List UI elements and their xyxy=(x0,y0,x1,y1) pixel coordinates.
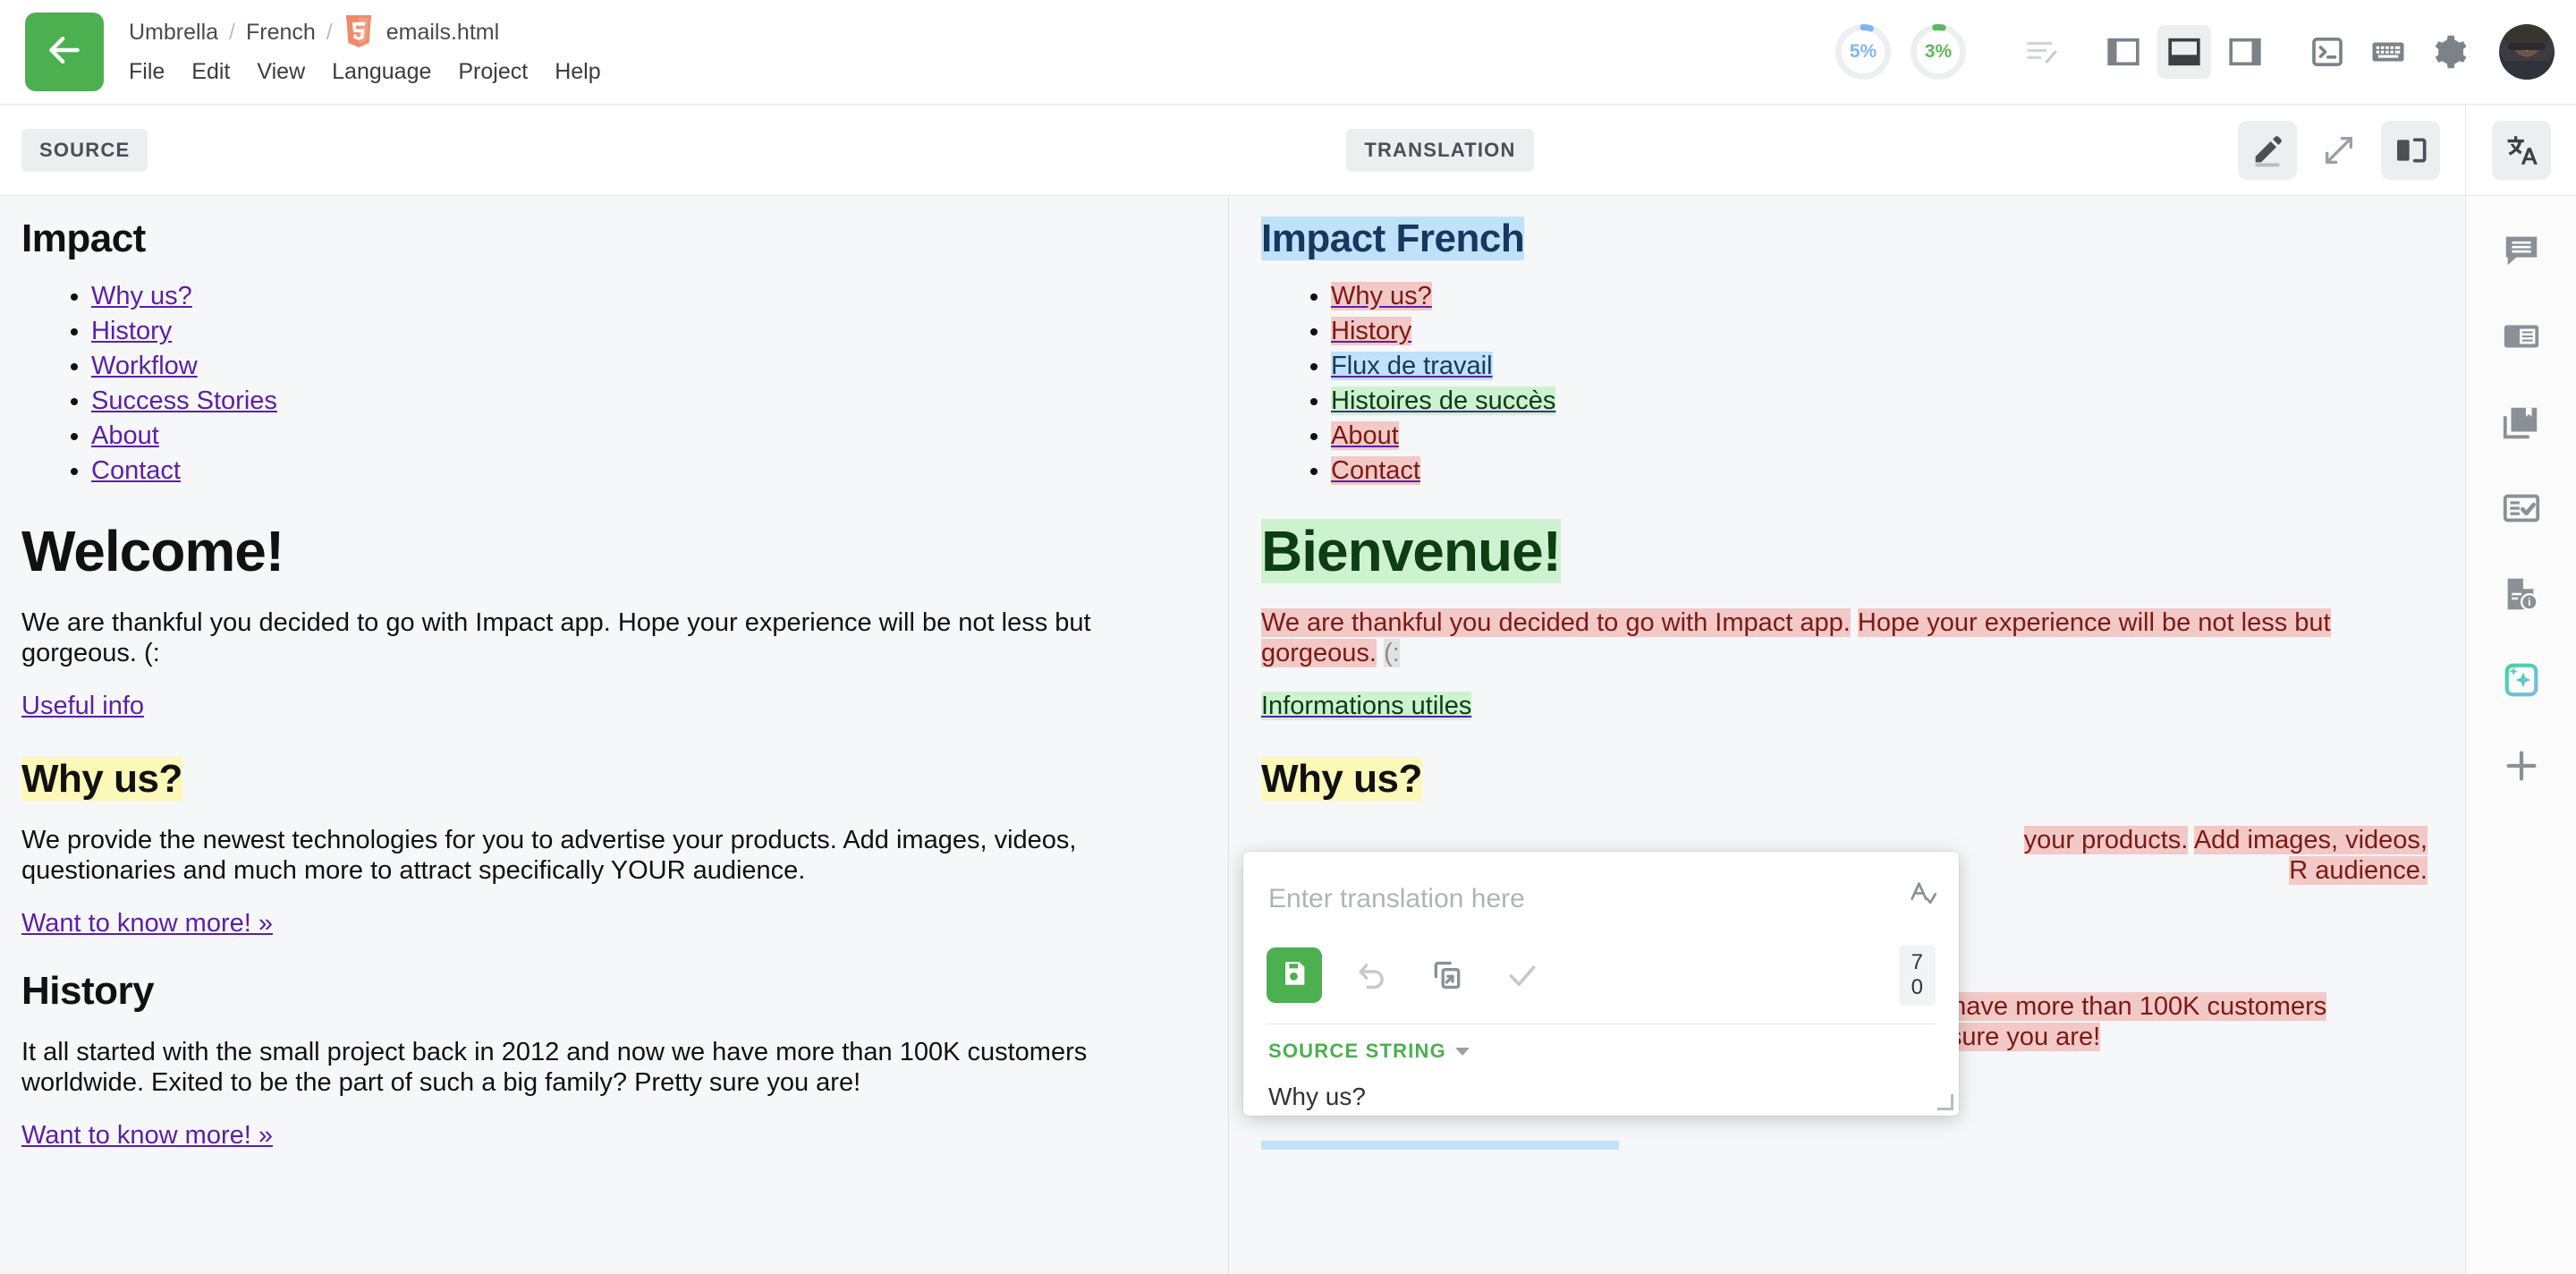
source-history-paragraph[interactable]: It all started with the small project ba… xyxy=(21,1037,1207,1098)
list-item: Workflow xyxy=(91,349,1207,383)
menu-item-view[interactable]: View xyxy=(257,59,305,85)
approved-progress-donut[interactable]: 3% xyxy=(1911,24,1966,80)
list-item: Contact xyxy=(91,454,1207,488)
list-item: Why us? xyxy=(91,279,1207,313)
target-nav-link-success-stories[interactable]: Histoires de succès xyxy=(1331,386,1555,415)
counter-limit: 0 xyxy=(1911,975,1923,1000)
source-nav-list: Why us? History Workflow Success Stories… xyxy=(91,279,1207,488)
target-welcome-heading-text[interactable]: Bienvenue! xyxy=(1261,519,1561,583)
target-why-us-segment-2[interactable]: Add images, videos, xyxy=(2194,826,2428,854)
avatar-body xyxy=(2499,61,2555,80)
translation-editor-popup: 7 0 SOURCE STRING Why us? xyxy=(1243,852,1959,1116)
target-nav-list: Why us? History Flux de travail Histoire… xyxy=(1331,279,2444,488)
source-nav-link-workflow[interactable]: Workflow xyxy=(91,352,198,380)
target-welcome-heading: Bienvenue! xyxy=(1261,518,2444,584)
source-welcome-heading: Welcome! xyxy=(21,518,1207,584)
breadcrumb-separator: / xyxy=(326,20,333,46)
save-button[interactable] xyxy=(1267,947,1322,1003)
menu-item-help[interactable]: Help xyxy=(555,59,600,85)
source-nav-link-about[interactable]: About xyxy=(91,421,159,450)
popup-resize-handle[interactable] xyxy=(1937,1094,1953,1110)
target-doc-title: Impact French xyxy=(1261,217,2444,261)
glossary-icon[interactable] xyxy=(2490,305,2553,368)
source-history-link[interactable]: Want to know more! » xyxy=(21,1121,273,1151)
save-icon xyxy=(1279,958,1309,993)
list-item: About xyxy=(1331,419,2444,453)
layout-right-icon[interactable] xyxy=(2218,25,2272,79)
menu-item-file[interactable]: File xyxy=(129,59,165,85)
title-block: Umbrella / French / emails.html File Edi… xyxy=(129,14,601,89)
source-why-us-heading: Why us? xyxy=(21,757,1207,802)
target-nav-link-about[interactable]: About xyxy=(1331,421,1399,450)
breadcrumb-item-file[interactable]: emails.html xyxy=(386,20,499,46)
edit-lines-icon[interactable] xyxy=(2014,25,2068,79)
editor-toolbar: SOURCE TRANSLATION xyxy=(0,105,2465,196)
source-nav-link-history[interactable]: History xyxy=(91,317,172,345)
copy-source-icon[interactable] xyxy=(1422,950,1472,1000)
menu-bar: File Edit View Language Project Help xyxy=(129,54,601,89)
layout-stacked-icon[interactable] xyxy=(2157,25,2211,79)
spellcheck-icon[interactable] xyxy=(1907,879,1937,913)
source-nav-link-why-us[interactable]: Why us? xyxy=(91,282,192,310)
ai-magic-icon[interactable] xyxy=(2490,649,2553,711)
avatar[interactable] xyxy=(2499,24,2555,80)
list-item: History xyxy=(1331,314,2444,348)
source-welcome-paragraph[interactable]: We are thankful you decided to go with I… xyxy=(21,607,1207,668)
list-item: History xyxy=(91,314,1207,348)
chevron-down-icon xyxy=(1455,1048,1470,1056)
list-item: Why us? xyxy=(1331,279,2444,313)
source-string-toggle[interactable]: SOURCE STRING xyxy=(1268,1040,1470,1063)
target-useful-info-link[interactable]: Informations utiles xyxy=(1261,692,1471,720)
list-item: About xyxy=(91,419,1207,453)
target-welcome-segment-1[interactable]: We are thankful you decided to go with I… xyxy=(1261,608,1851,637)
expand-diagonal-icon[interactable] xyxy=(2309,121,2368,180)
target-doc-title-text[interactable]: Impact French xyxy=(1261,217,1524,260)
target-why-us-segment-3[interactable]: R audience. xyxy=(2289,856,2428,885)
approve-check-icon[interactable] xyxy=(1497,950,1547,1000)
source-nav-link-success-stories[interactable]: Success Stories xyxy=(91,386,277,415)
target-useful-info-row: Informations utiles xyxy=(1261,692,2444,721)
gear-icon[interactable] xyxy=(2422,25,2476,79)
list-item: Success Stories xyxy=(91,384,1207,418)
list-item: Histoires de succès xyxy=(1331,384,2444,418)
back-button[interactable] xyxy=(25,13,104,91)
source-useful-info-link[interactable]: Useful info xyxy=(21,692,144,721)
target-next-segment-partial[interactable] xyxy=(1261,1141,1619,1150)
breadcrumb-separator: / xyxy=(229,20,235,46)
source-history-heading: History xyxy=(21,969,1207,1014)
source-string-text: Why us? xyxy=(1268,1083,1366,1111)
list-item: Flux de travail xyxy=(1331,349,2444,383)
translated-progress-value: 5% xyxy=(1835,24,1891,80)
target-why-us-heading-text[interactable]: Why us? xyxy=(1261,757,1422,801)
target-nav-link-history[interactable]: History xyxy=(1331,317,1411,345)
target-why-us-segment-1[interactable]: your products. xyxy=(2024,826,2189,854)
undo-icon[interactable] xyxy=(1347,950,1397,1000)
avatar-glasses xyxy=(2508,43,2546,49)
source-why-us-paragraph[interactable]: We provide the newest technologies for y… xyxy=(21,825,1207,886)
source-doc-title: Impact xyxy=(21,217,1207,261)
translated-progress-donut[interactable]: 5% xyxy=(1835,24,1891,80)
source-nav-link-contact[interactable]: Contact xyxy=(91,456,181,485)
target-nav-link-contact[interactable]: Contact xyxy=(1331,456,1420,485)
source-string-label: SOURCE STRING xyxy=(1268,1040,1446,1063)
target-nav-link-why-us[interactable]: Why us? xyxy=(1331,282,1432,310)
approved-progress-value: 3% xyxy=(1911,24,1966,80)
list-item: Contact xyxy=(1331,454,2444,488)
top-bar-actions: 5% 3% xyxy=(1835,0,2555,104)
breadcrumb-item-project[interactable]: Umbrella xyxy=(129,20,218,46)
pencil-edit-icon[interactable] xyxy=(2238,121,2297,180)
breadcrumb: Umbrella / French / emails.html xyxy=(129,14,601,50)
editor-panes: Impact Why us? History Workflow Success … xyxy=(0,197,2465,1274)
translation-input[interactable] xyxy=(1243,852,1959,914)
counter-current: 7 xyxy=(1911,950,1923,975)
target-why-us-heading: Why us? xyxy=(1261,757,2444,802)
translate-tool-slot xyxy=(2466,105,2576,196)
source-pane: Impact Why us? History Workflow Success … xyxy=(0,197,1229,1274)
target-nav-link-workflow[interactable]: Flux de travail xyxy=(1331,352,1493,380)
right-sidebar: i xyxy=(2465,105,2576,1274)
file-info-icon[interactable]: i xyxy=(2490,563,2553,625)
layout-left-icon[interactable] xyxy=(2097,25,2150,79)
source-why-us-link[interactable]: Want to know more! » xyxy=(21,909,273,939)
menu-item-project[interactable]: Project xyxy=(458,59,528,85)
terminal-icon[interactable] xyxy=(2301,25,2354,79)
editor-toolbar-actions xyxy=(2238,121,2440,180)
menu-item-language[interactable]: Language xyxy=(332,59,431,85)
popup-divider xyxy=(1267,1023,1936,1024)
translate-icon[interactable] xyxy=(2492,121,2551,180)
target-welcome-paragraph: We are thankful you decided to go with I… xyxy=(1261,607,2444,668)
html5-file-icon xyxy=(343,15,374,49)
source-panel-label[interactable]: SOURCE xyxy=(21,129,148,172)
target-welcome-segment-3[interactable]: (: xyxy=(1384,639,1400,667)
comments-icon[interactable] xyxy=(2490,219,2553,282)
add-plus-icon[interactable] xyxy=(2490,735,2553,797)
keyboard-icon[interactable] xyxy=(2361,25,2415,79)
translation-panel-label[interactable]: TRANSLATION xyxy=(1346,129,1533,172)
character-counter: 7 0 xyxy=(1899,945,1936,1006)
menu-item-edit[interactable]: Edit xyxy=(191,59,230,85)
top-bar: Umbrella / French / emails.html File Edi… xyxy=(0,0,2576,105)
breadcrumb-item-language[interactable]: French xyxy=(246,20,316,46)
popup-actions: 7 0 xyxy=(1267,945,1936,1006)
svg-text:i: i xyxy=(2528,596,2530,608)
source-why-us-heading-text: Why us? xyxy=(21,757,182,801)
qa-checklist-icon[interactable] xyxy=(2490,477,2553,539)
split-view-icon[interactable] xyxy=(2381,121,2440,180)
arrow-left-icon xyxy=(45,30,84,74)
translation-memory-icon[interactable] xyxy=(2490,391,2553,454)
